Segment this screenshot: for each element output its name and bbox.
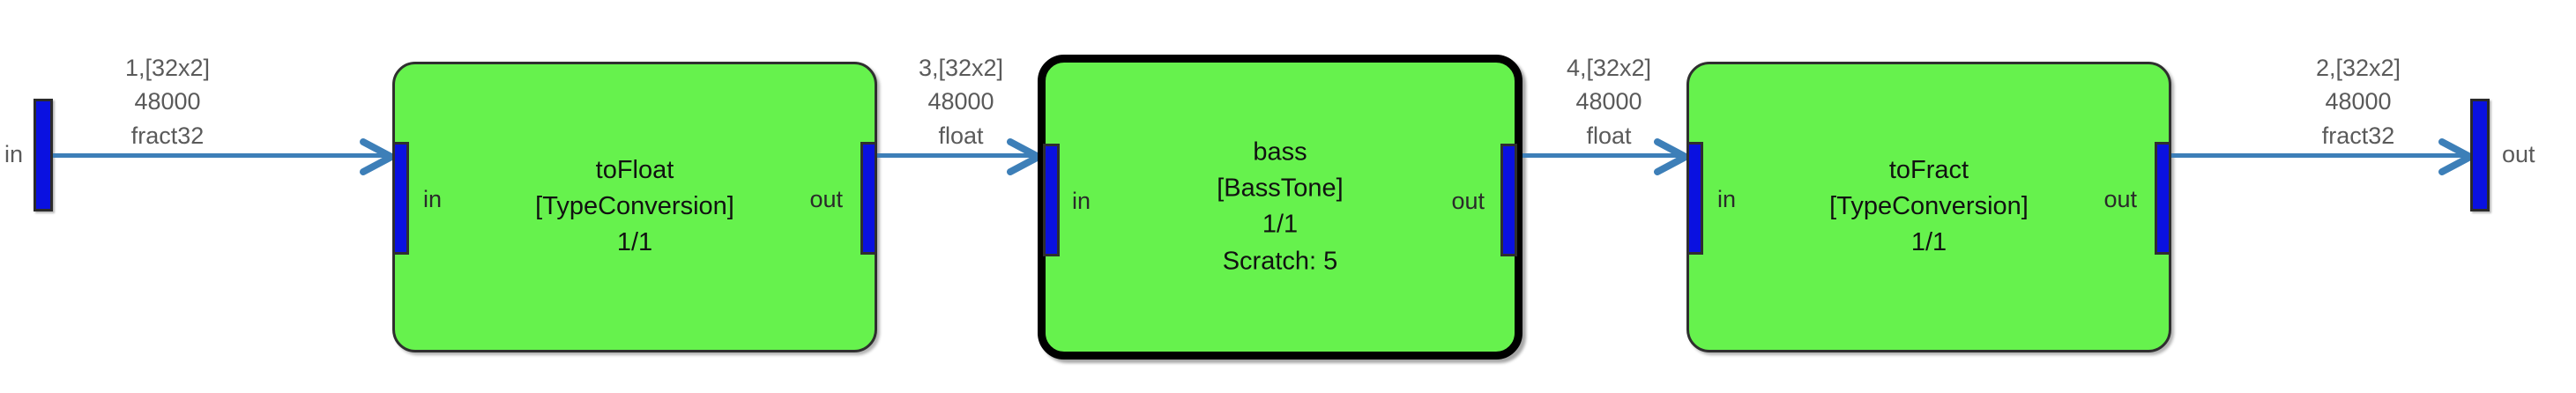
- edge-label-3: 3,[32x2] 48000 float: [886, 51, 1036, 152]
- block-tofract-text: toFract [TypeConversion] 1/1: [1689, 152, 2169, 262]
- block-tofloat-rate: 1/1: [395, 226, 875, 262]
- block-bass-name: bass: [1046, 135, 1515, 171]
- block-tofloat-type: [TypeConversion]: [395, 189, 875, 225]
- wire-edge-2[interactable]: [2171, 153, 2471, 158]
- output-terminal[interactable]: [2470, 99, 2490, 211]
- edge-2-dims: 2,[32x2]: [2274, 51, 2442, 85]
- input-terminal-label: in: [4, 143, 23, 167]
- output-terminal-label: out: [2502, 143, 2535, 167]
- block-bass-type: [BassTone]: [1046, 171, 1515, 207]
- edge-3-dims: 3,[32x2]: [886, 51, 1036, 85]
- edge-label-1: 1,[32x2] 48000 fract32: [79, 51, 256, 152]
- edge-3-rate: 48000: [886, 85, 1036, 118]
- edge-2-rate: 48000: [2274, 85, 2442, 118]
- block-bass-rate: 1/1: [1046, 207, 1515, 243]
- block-tofract-in-label: in: [1717, 188, 1736, 211]
- edge-4-dims: 4,[32x2]: [1530, 51, 1688, 85]
- block-tofract-in-port[interactable]: [1686, 142, 1703, 255]
- edge-4-type: float: [1530, 119, 1688, 152]
- block-tofract-type: [TypeConversion]: [1689, 189, 2169, 225]
- wire-edge-3[interactable]: [877, 153, 1040, 158]
- block-bass-text: bass [BassTone] 1/1 Scratch: 5: [1046, 135, 1515, 280]
- edge-label-4: 4,[32x2] 48000 float: [1530, 51, 1688, 152]
- block-tofloat-text: toFloat [TypeConversion] 1/1: [395, 152, 875, 262]
- block-bass-out-port[interactable]: [1500, 144, 1517, 256]
- block-diagram-canvas: in 1,[32x2] 48000 fract32 in toFloat [Ty…: [0, 0, 2576, 393]
- block-tofract[interactable]: in toFract [TypeConversion] 1/1 out: [1686, 62, 2171, 352]
- edge-label-2: 2,[32x2] 48000 fract32: [2274, 51, 2442, 152]
- block-tofloat-in-label: in: [423, 188, 442, 211]
- block-tofloat-name: toFloat: [395, 152, 875, 189]
- block-bass-out-label: out: [1451, 189, 1485, 213]
- block-bass-extra: Scratch: 5: [1046, 243, 1515, 279]
- block-tofract-out-port[interactable]: [2155, 142, 2171, 255]
- block-tofloat[interactable]: in toFloat [TypeConversion] 1/1 out: [392, 62, 877, 352]
- block-bass[interactable]: in bass [BassTone] 1/1 Scratch: 5 out: [1038, 55, 1523, 360]
- block-tofract-out-label: out: [2103, 188, 2137, 211]
- input-terminal[interactable]: [34, 99, 53, 211]
- block-tofract-name: toFract: [1689, 152, 2169, 189]
- edge-1-dims: 1,[32x2]: [79, 51, 256, 85]
- wire-edge-1[interactable]: [53, 153, 395, 158]
- block-tofloat-out-label: out: [809, 188, 843, 211]
- edge-3-type: float: [886, 119, 1036, 152]
- block-bass-in-label: in: [1072, 189, 1091, 213]
- block-bass-in-port[interactable]: [1043, 144, 1060, 256]
- block-tofloat-out-port[interactable]: [860, 142, 877, 255]
- edge-4-rate: 48000: [1530, 85, 1688, 118]
- block-tofract-rate: 1/1: [1689, 226, 2169, 262]
- wire-edge-4[interactable]: [1523, 153, 1690, 158]
- edge-1-type: fract32: [79, 119, 256, 152]
- edge-1-rate: 48000: [79, 85, 256, 118]
- block-tofloat-in-port[interactable]: [392, 142, 409, 255]
- edge-2-type: fract32: [2274, 119, 2442, 152]
